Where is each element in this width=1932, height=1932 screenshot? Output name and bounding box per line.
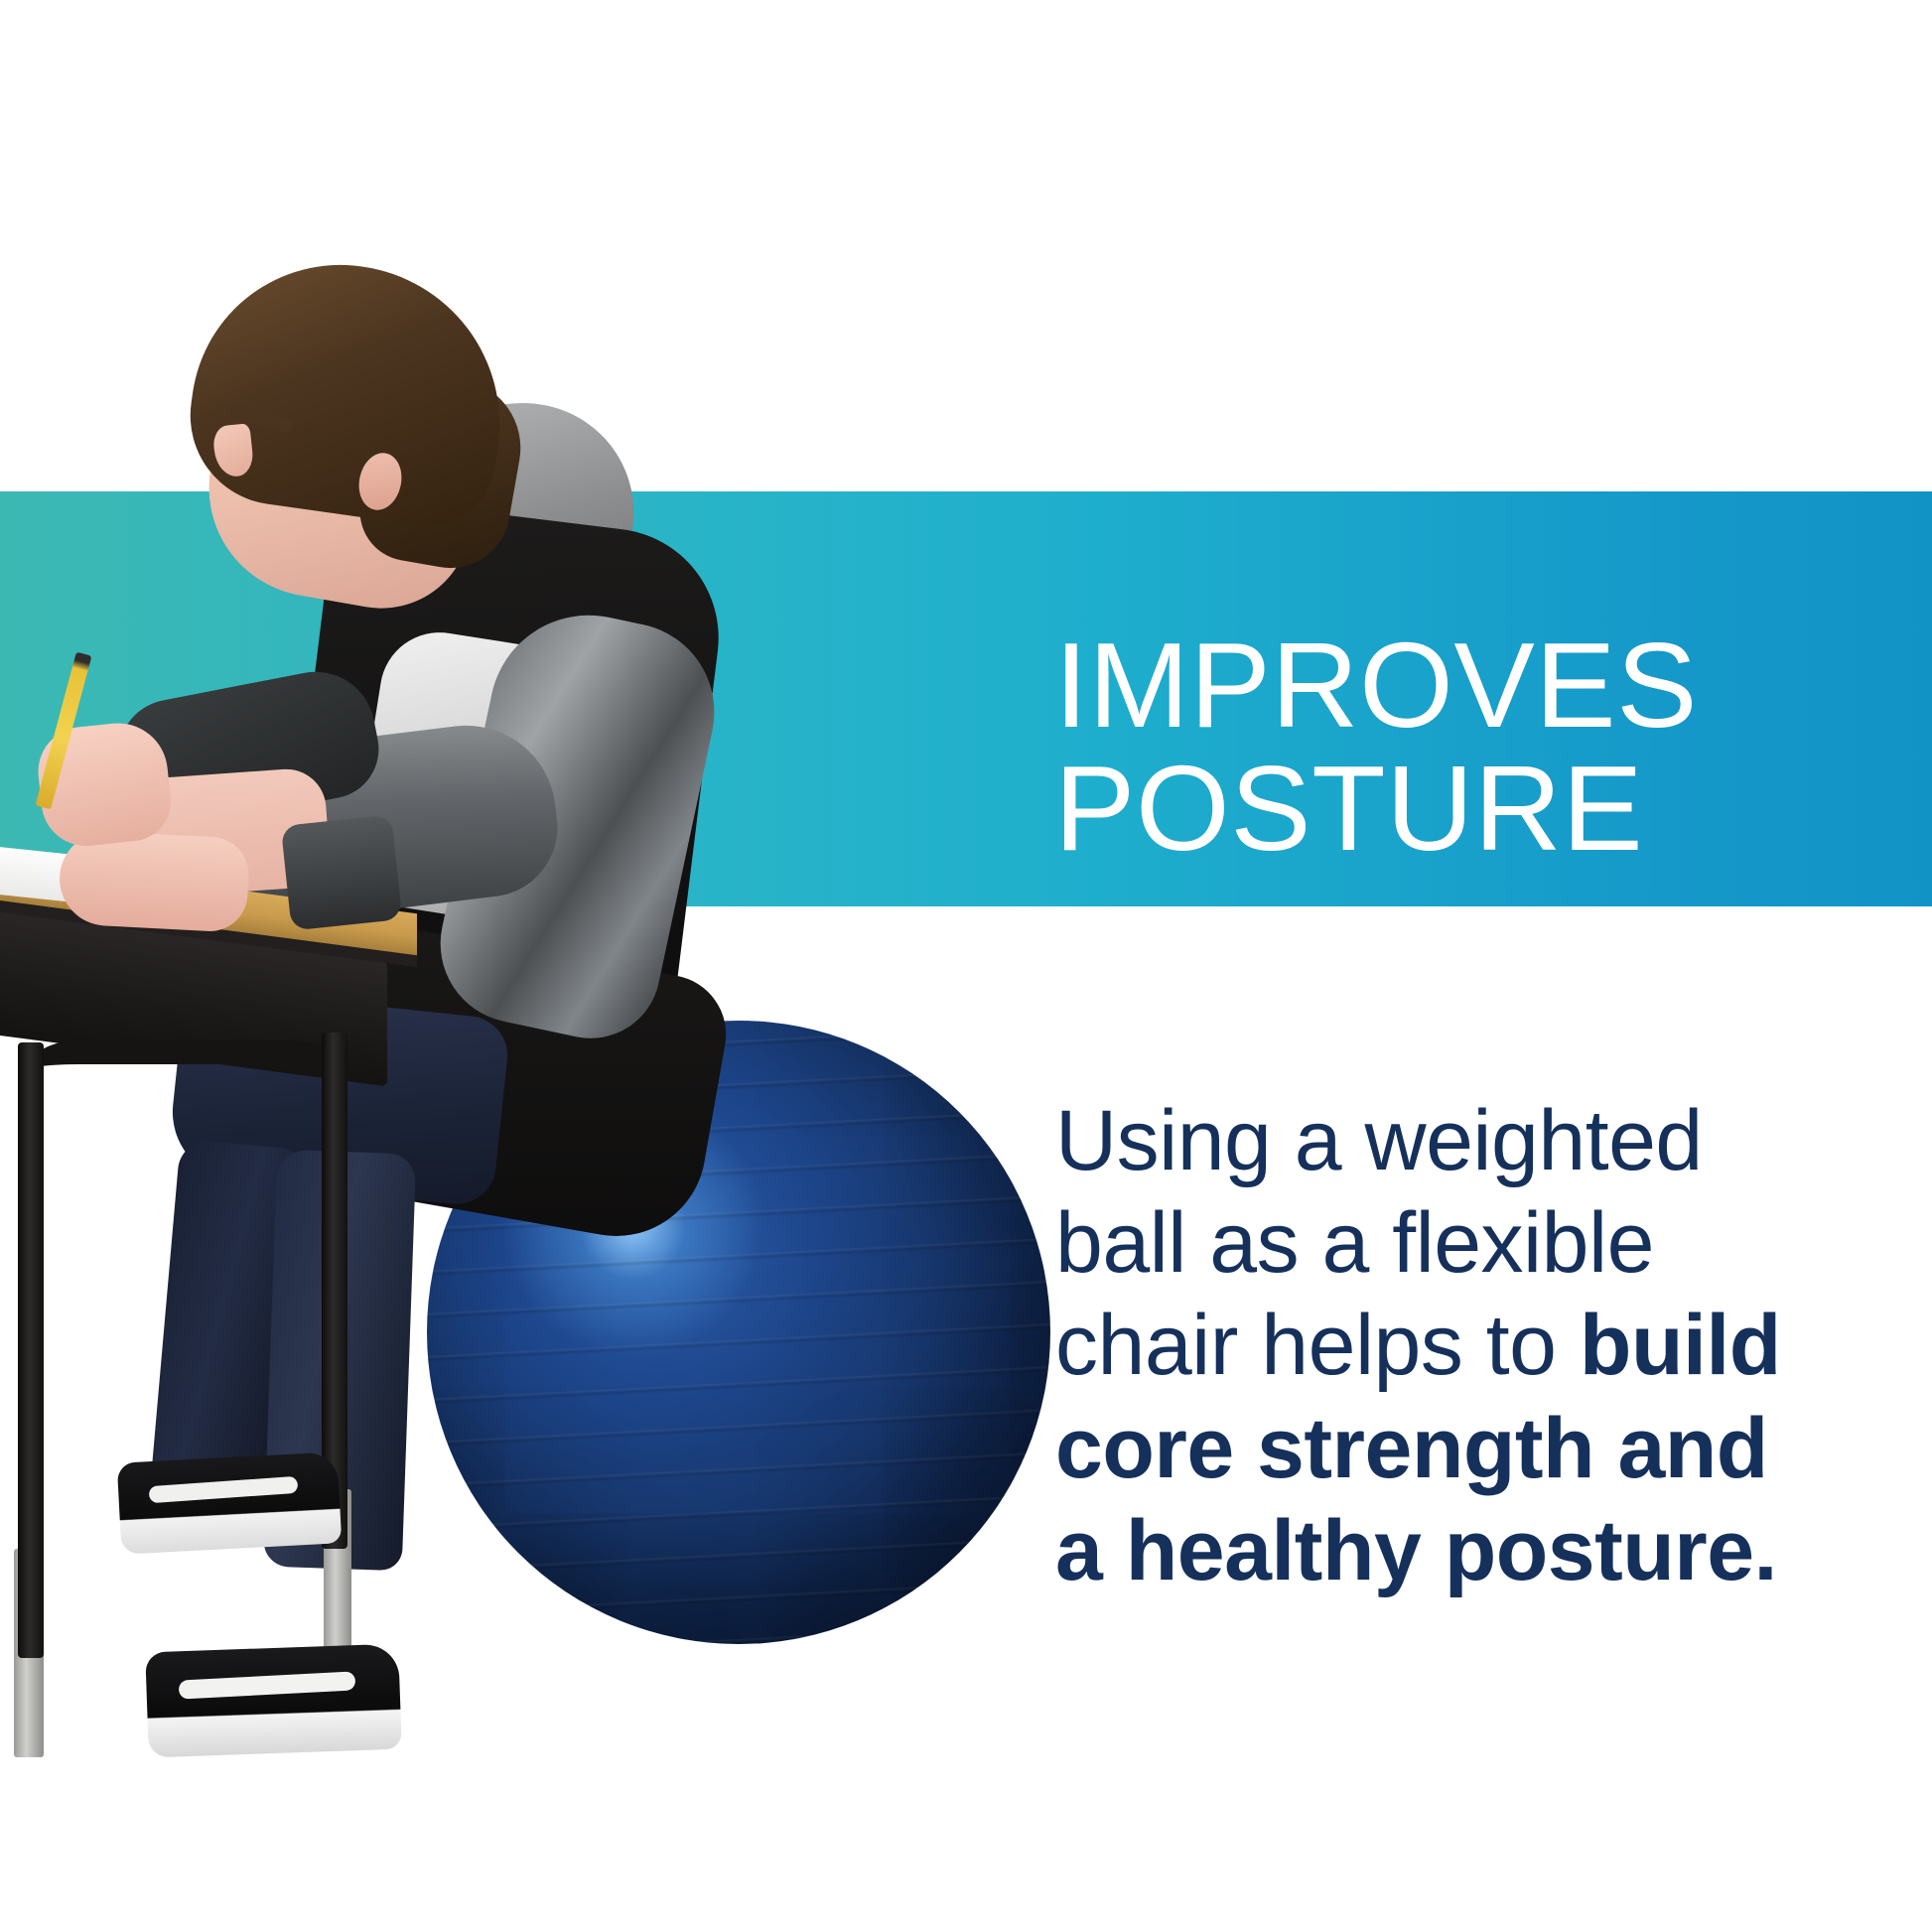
desk-leg-left: [18, 1042, 44, 1658]
school-desk-rail: [28, 1040, 344, 1070]
body-copy: Using a weighted ball as a flexible chai…: [1055, 1090, 1820, 1602]
sneaker-back: [117, 1451, 343, 1554]
sneaker-front: [145, 1644, 402, 1758]
jacket-cuff: [281, 814, 402, 930]
poster-canvas: IMPROVES POSTURE Using a weighted ball a…: [0, 0, 1932, 1932]
product-photo: [0, 0, 1052, 1932]
page-title: IMPROVES POSTURE: [1054, 623, 1888, 871]
